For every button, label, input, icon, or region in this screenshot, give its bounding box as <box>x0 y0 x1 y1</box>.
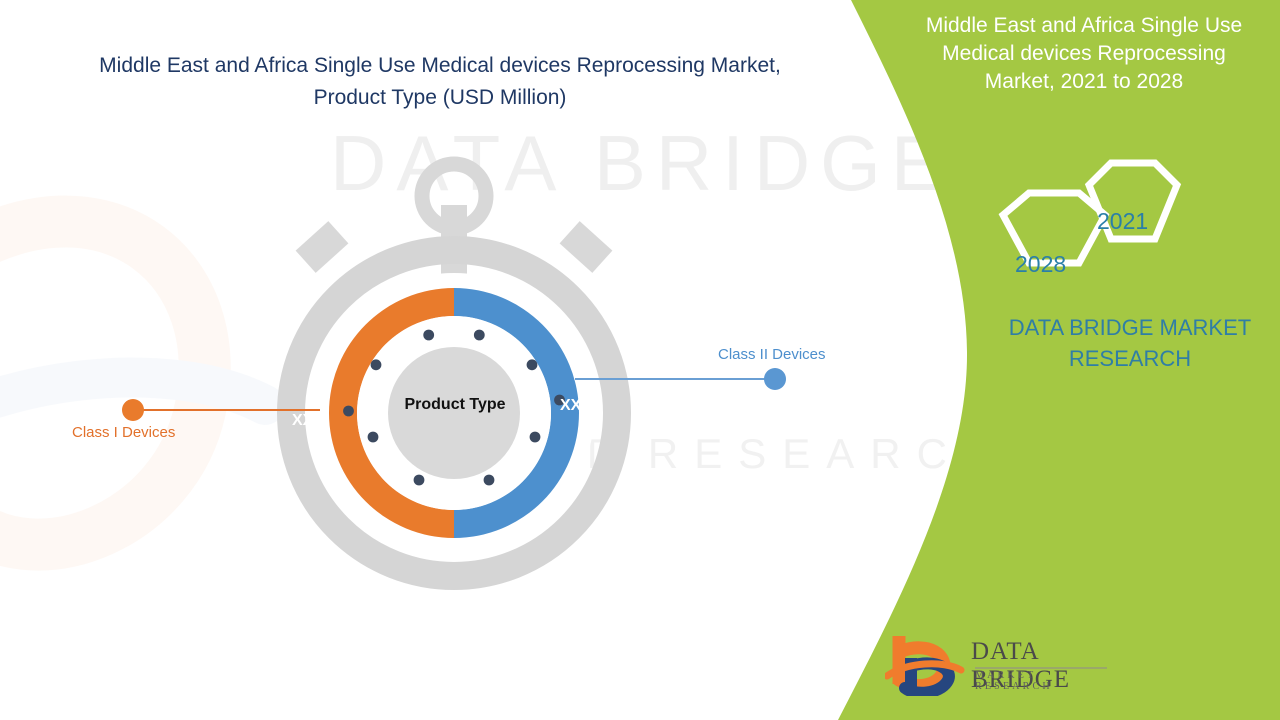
donut-center-label: Product Type <box>355 396 555 414</box>
brand-name-text: DATA BRIDGE MARKET RESEARCH <box>980 312 1280 374</box>
right-panel-title-line-2: Medical devices Reprocessing <box>942 42 1226 65</box>
data-bridge-logo-icon <box>885 632 965 696</box>
hexagon-2028-label: 2028 <box>1015 251 1066 278</box>
year-hexagon-group: 2021 2028 <box>985 143 1185 283</box>
callout-dot-class-ii[interactable] <box>764 368 786 390</box>
slice-value-class-ii: XX% <box>560 397 596 415</box>
brand-name-line-2: RESEARCH <box>1069 346 1191 371</box>
right-panel-title-line-3: Market, 2021 to 2028 <box>985 70 1183 93</box>
page-title: Middle East and Africa Single Use Medica… <box>45 50 835 114</box>
infographic-canvas: DATA BRIDGE MARKET RESEARCH <box>0 0 1280 720</box>
callout-dot-class-i[interactable] <box>122 399 144 421</box>
brand-name-line-1: DATA BRIDGE MARKET <box>1009 315 1251 340</box>
hexagon-2021-label: 2021 <box>1097 208 1148 235</box>
legend-label-class-ii[interactable]: Class II Devices <box>718 346 826 363</box>
page-title-line-1: Middle East and Africa Single Use Medica… <box>99 54 781 77</box>
logo-tagline: MARKET RESEARCH <box>975 670 1110 692</box>
legend-label-class-i[interactable]: Class I Devices <box>72 424 175 441</box>
company-logo[interactable]: DATA BRIDGE MARKET RESEARCH <box>885 630 1110 698</box>
page-title-line-2: Product Type (USD Million) <box>314 86 567 109</box>
slice-value-class-i: XX% <box>292 412 328 430</box>
right-panel-title-line-1: Middle East and Africa Single Use <box>926 14 1242 37</box>
right-panel-title: Middle East and Africa Single Use Medica… <box>900 12 1268 96</box>
